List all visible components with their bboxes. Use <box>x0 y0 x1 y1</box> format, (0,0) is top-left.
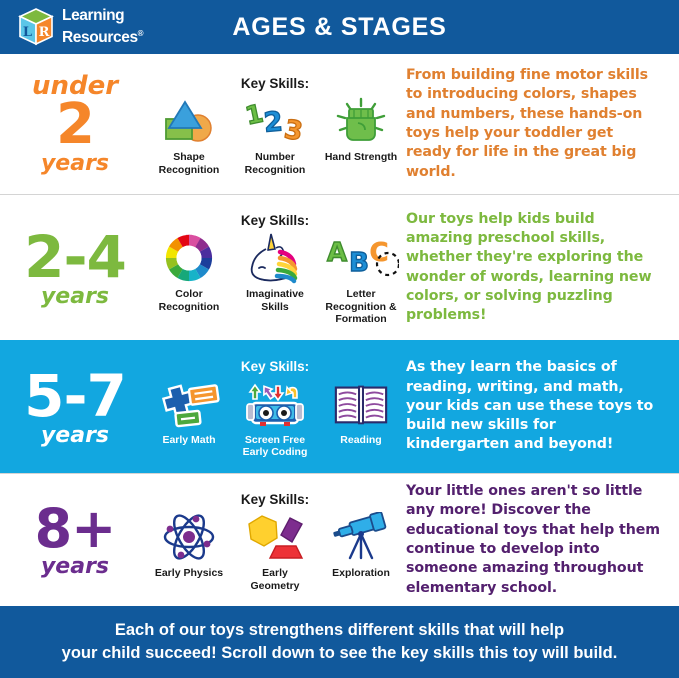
skill-reading: Reading <box>321 377 401 446</box>
brand-logo[interactable]: L R Learning Resources® <box>17 7 143 47</box>
skill-label: Color Recognition <box>159 288 220 313</box>
svg-text:R: R <box>39 25 50 40</box>
description-block-2-4: Our toys help kids build amazing prescho… <box>400 210 667 326</box>
skill-label: Imaginative Skills <box>246 288 304 313</box>
telescope-icon <box>330 510 392 564</box>
unicorn-icon <box>244 231 306 285</box>
svg-text:B: B <box>349 248 369 278</box>
brand-line-1: Learning <box>62 7 124 24</box>
skill-label: Number Recognition <box>245 151 306 176</box>
skill-color-recognition: Color Recognition <box>149 231 229 313</box>
skills-block-8-plus: Key Skills: <box>150 474 400 606</box>
skill-early-physics: Early Physics <box>149 510 229 579</box>
skills-block-2-4: Key Skills: <box>150 195 400 340</box>
svg-text:A: A <box>327 238 347 268</box>
coding-robot-icon <box>242 377 308 431</box>
key-skills-heading: Key Skills: <box>241 76 309 91</box>
skill-exploration: Exploration <box>321 510 401 579</box>
key-skills-heading: Key Skills: <box>241 359 309 374</box>
early-math-icon <box>158 377 220 431</box>
age-value: 2 <box>0 97 150 153</box>
skill-shape-recognition: Shape Recognition <box>149 94 229 176</box>
skill-number-recognition: 1 2 3 Number Recognition <box>235 94 315 176</box>
description-text: As they learn the basics of reading, wri… <box>406 358 663 455</box>
skill-label: Early Physics <box>155 567 223 579</box>
color-wheel-icon <box>164 231 214 285</box>
atom-icon <box>161 510 217 564</box>
skill-label: Letter Recognition & Formation <box>325 288 396 325</box>
skill-label: Exploration <box>332 567 390 579</box>
brand-line-2: Resources® <box>62 29 143 46</box>
svg-text:L: L <box>23 25 32 40</box>
section-8-plus: 8+ years Key Skills: <box>0 473 679 606</box>
learning-resources-cube-icon: L R <box>17 7 55 47</box>
skills-row: Early Physics Early Geometry <box>149 510 401 592</box>
section-under-2: under 2 years Key Skills: Shape Recognit… <box>0 54 679 195</box>
age-unit: years <box>41 423 109 448</box>
header-bar: L R Learning Resources® AGES & STAGES <box>0 0 679 54</box>
age-unit: years <box>41 151 109 176</box>
skill-label: Hand Strength <box>325 151 397 163</box>
skill-label: Reading <box>340 434 381 446</box>
age-value: 5-7 <box>0 367 150 425</box>
abc-letters-icon: A B C <box>323 231 399 285</box>
skills-row: Early Math <box>149 377 401 459</box>
skill-label: Early Math <box>162 434 215 446</box>
description-block-8-plus: Your little ones aren't so little any mo… <box>400 482 667 598</box>
age-label-5-7: 5-7 years <box>0 367 150 447</box>
number-recognition-icon: 1 2 3 <box>246 94 304 148</box>
description-block-under-2: From building fine motor skills to intro… <box>400 66 667 182</box>
skill-early-coding: Screen Free Early Coding <box>235 377 315 459</box>
skill-letter-recognition: A B C Letter Recognition & Formation <box>321 231 401 325</box>
section-5-7: 5-7 years Key Skills: <box>0 340 679 473</box>
svg-text:3: 3 <box>282 115 304 145</box>
age-value: 2-4 <box>0 228 150 286</box>
skills-block-under-2: Key Skills: Shape Recognition <box>150 54 400 194</box>
open-book-icon <box>332 377 390 431</box>
skills-row: Shape Recognition 1 2 3 Number Recogniti… <box>149 94 401 176</box>
skill-early-math: Early Math <box>149 377 229 446</box>
age-label-2-4: 2-4 years <box>0 228 150 308</box>
svg-text:2: 2 <box>263 106 284 139</box>
age-value: 8+ <box>0 502 150 556</box>
registered-mark: ® <box>138 28 144 37</box>
skill-early-geometry: Early Geometry <box>235 510 315 592</box>
age-unit: years <box>41 284 109 309</box>
hand-strength-icon <box>332 94 390 148</box>
brand-wordmark: Learning Resources® <box>62 7 143 46</box>
skill-label: Screen Free Early Coding <box>243 434 308 459</box>
description-text: Our toys help kids build amazing prescho… <box>406 210 663 326</box>
footer-line-2: your child succeed! Scroll down to see t… <box>62 644 618 662</box>
skill-hand-strength: Hand Strength <box>321 94 401 163</box>
skill-imaginative: Imaginative Skills <box>235 231 315 313</box>
footer-message: Each of our toys strengthens different s… <box>62 619 618 665</box>
description-text: Your little ones aren't so little any mo… <box>406 482 663 598</box>
age-label-under-2: under 2 years <box>0 73 150 175</box>
footer-line-1: Each of our toys strengthens different s… <box>115 621 564 639</box>
footer-bar: Each of our toys strengthens different s… <box>0 606 679 678</box>
skill-label: Early Geometry <box>250 567 299 592</box>
shape-recognition-icon <box>160 94 218 148</box>
infographic-page: L R Learning Resources® AGES & STAGES un… <box>0 0 679 678</box>
geometry-shapes-icon <box>244 510 306 564</box>
age-unit: years <box>41 554 109 579</box>
skill-label: Shape Recognition <box>159 151 220 176</box>
key-skills-heading: Key Skills: <box>241 492 309 507</box>
section-2-4: 2-4 years Key Skills: <box>0 195 679 340</box>
age-label-8-plus: 8+ years <box>0 502 150 578</box>
skills-block-5-7: Key Skills: <box>150 340 400 473</box>
description-text: From building fine motor skills to intro… <box>406 66 663 182</box>
key-skills-heading: Key Skills: <box>241 213 309 228</box>
description-block-5-7: As they learn the basics of reading, wri… <box>400 358 667 455</box>
skills-row: Color Recognition <box>149 231 401 325</box>
